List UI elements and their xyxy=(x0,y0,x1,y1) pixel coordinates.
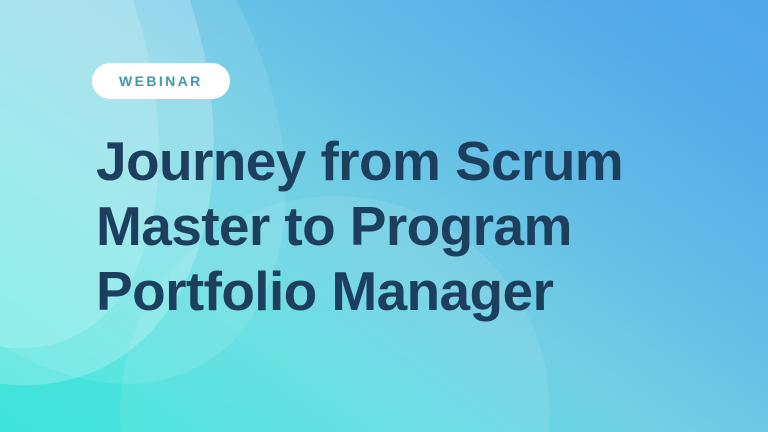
webinar-promo-card: WEBINAR Journey from Scrum Master to Pro… xyxy=(0,0,768,432)
page-title-line-2: Master to Program xyxy=(96,194,728,259)
webinar-badge: WEBINAR xyxy=(92,63,230,99)
card-content: WEBINAR Journey from Scrum Master to Pro… xyxy=(92,63,728,324)
page-title: Journey from Scrum Master to Program Por… xyxy=(96,129,728,324)
page-title-line-3: Portfolio Manager xyxy=(96,259,728,324)
webinar-badge-label: WEBINAR xyxy=(119,74,203,88)
page-title-line-1: Journey from Scrum xyxy=(96,129,728,194)
